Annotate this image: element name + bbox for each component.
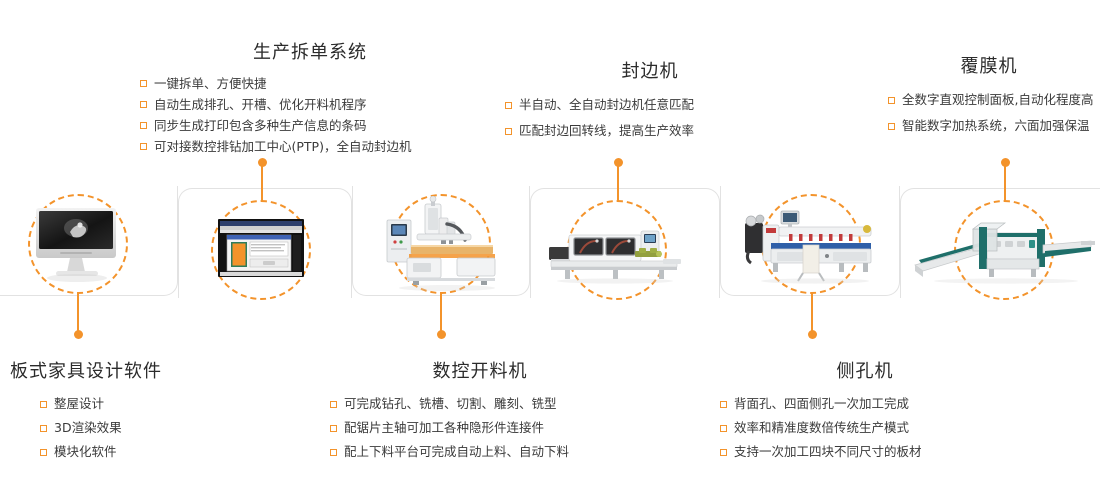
checkbox-icon	[720, 425, 727, 432]
list-item: 模块化软件	[40, 440, 210, 464]
connector-stem-side-hole	[811, 292, 813, 332]
bullet-list-cnc-cutting: 可完成钻孔、铣槽、切割、雕刻、铣型 配锯片主轴可加工各种隐形件连接件 配上下料平…	[330, 392, 630, 464]
checkbox-icon	[888, 123, 895, 130]
text-block-design-software: 板式家具设计软件 整屋设计 3D渲染效果 模块化软件	[10, 357, 210, 464]
checkbox-icon	[40, 449, 47, 456]
bullet-list-laminating: 全数字直观控制面板,自动化程度高 智能数字加热系统，六面加强保温	[888, 87, 1100, 139]
checkbox-icon	[505, 102, 512, 109]
connector-dot-edge-banding	[614, 158, 623, 167]
checkbox-icon	[40, 401, 47, 408]
bullet-list-side-hole: 背面孔、四面侧孔一次加工完成 效率和精准度数倍传统生产模式 支持一次加工四块不同…	[720, 392, 1010, 464]
connector-stem-design-software	[77, 292, 79, 332]
list-item: 自动生成排孔、开槽、优化开料机程序	[140, 94, 480, 115]
block-title-side-hole: 侧孔机	[720, 357, 1010, 383]
bullet-text: 整屋设计	[54, 392, 104, 416]
text-block-laminating: 覆膜机 全数字直观控制面板,自动化程度高 智能数字加热系统，六面加强保温	[888, 52, 1100, 139]
bullet-list-edge-banding: 半自动、全自动封边机任意匹配 匹配封边回转线，提高生产效率	[505, 92, 795, 144]
bullet-text: 支持一次加工四块不同尺寸的板材	[734, 440, 922, 464]
list-item: 匹配封边回转线，提高生产效率	[505, 118, 795, 144]
bullet-text: 匹配封边回转线，提高生产效率	[519, 118, 694, 144]
bullet-text: 同步生成打印包含多种生产信息的条码	[154, 115, 367, 136]
node-side-hole[interactable]	[761, 194, 861, 294]
node-edge-banding[interactable]	[567, 200, 667, 300]
list-item: 效率和精准度数倍传统生产模式	[720, 416, 1010, 440]
checkbox-icon	[888, 97, 895, 104]
bullet-list-design-software: 整屋设计 3D渲染效果 模块化软件	[10, 392, 210, 464]
connector-dot-side-hole	[808, 330, 817, 339]
connector-stem-edge-banding	[617, 162, 619, 202]
block-title-edge-banding: 封边机	[505, 57, 795, 83]
bullet-text: 一键拆单、方便快捷	[154, 73, 267, 94]
connector-dot-splitting-system	[258, 158, 267, 167]
checkbox-icon	[505, 128, 512, 135]
list-item: 3D渲染效果	[40, 416, 210, 440]
list-item: 背面孔、四面侧孔一次加工完成	[720, 392, 1010, 416]
text-block-cnc-cutting: 数控开料机 可完成钻孔、铣槽、切割、雕刻、铣型 配锯片主轴可加工各种隐形件连接件…	[330, 357, 630, 464]
node-cnc-cutting[interactable]	[391, 194, 491, 294]
bullet-text: 效率和精准度数倍传统生产模式	[734, 416, 909, 440]
connector-dot-design-software	[74, 330, 83, 339]
list-item: 半自动、全自动封边机任意匹配	[505, 92, 795, 118]
list-item: 整屋设计	[40, 392, 210, 416]
bullet-text: 半自动、全自动封边机任意匹配	[519, 92, 694, 118]
list-item: 可对接数控排钻加工中心(PTP)，全自动封边机	[140, 136, 480, 157]
flow-diagram: 生产拆单系统 一键拆单、方便快捷 自动生成排孔、开槽、优化开料机程序 同步生成打…	[0, 0, 1100, 495]
checkbox-icon	[720, 401, 727, 408]
node-design-software[interactable]	[28, 194, 128, 294]
connector-dot-cnc-cutting	[437, 330, 446, 339]
bullet-list-splitting-system: 一键拆单、方便快捷 自动生成排孔、开槽、优化开料机程序 同步生成打印包含多种生产…	[140, 73, 480, 157]
bullet-text: 背面孔、四面侧孔一次加工完成	[734, 392, 909, 416]
block-title-design-software: 板式家具设计软件	[10, 357, 210, 383]
bullet-text: 可完成钻孔、铣槽、切割、雕刻、铣型	[344, 392, 557, 416]
checkbox-icon	[330, 449, 337, 456]
checkbox-icon	[140, 122, 147, 129]
checkbox-icon	[330, 401, 337, 408]
list-item: 配锯片主轴可加工各种隐形件连接件	[330, 416, 630, 440]
text-block-side-hole: 侧孔机 背面孔、四面侧孔一次加工完成 效率和精准度数倍传统生产模式 支持一次加工…	[720, 357, 1010, 464]
block-title-laminating: 覆膜机	[888, 52, 1100, 78]
checkbox-icon	[140, 143, 147, 150]
list-item: 智能数字加热系统，六面加强保温	[888, 113, 1100, 139]
list-item: 全数字直观控制面板,自动化程度高	[888, 87, 1100, 113]
bullet-text: 智能数字加热系统，六面加强保温	[902, 113, 1090, 139]
bullet-text: 可对接数控排钻加工中心(PTP)，全自动封边机	[154, 136, 411, 157]
bullet-text: 全数字直观控制面板,自动化程度高	[902, 87, 1093, 113]
list-item: 支持一次加工四块不同尺寸的板材	[720, 440, 1010, 464]
list-item: 配上下料平台可完成自动上料、自动下料	[330, 440, 630, 464]
list-item: 一键拆单、方便快捷	[140, 73, 480, 94]
connector-stem-splitting-system	[261, 162, 263, 202]
node-splitting-system[interactable]	[211, 200, 311, 300]
node-laminating[interactable]	[954, 200, 1054, 300]
bullet-text: 自动生成排孔、开槽、优化开料机程序	[154, 94, 367, 115]
checkbox-icon	[40, 425, 47, 432]
connector-stem-cnc-cutting	[440, 292, 442, 332]
bullet-text: 配锯片主轴可加工各种隐形件连接件	[344, 416, 544, 440]
connector-dot-laminating	[1001, 158, 1010, 167]
list-item: 同步生成打印包含多种生产信息的条码	[140, 115, 480, 136]
checkbox-icon	[140, 80, 147, 87]
bullet-text: 3D渲染效果	[54, 416, 122, 440]
checkbox-icon	[140, 101, 147, 108]
connector-stem-laminating	[1004, 162, 1006, 202]
block-title-cnc-cutting: 数控开料机	[330, 357, 630, 383]
text-block-splitting-system: 生产拆单系统 一键拆单、方便快捷 自动生成排孔、开槽、优化开料机程序 同步生成打…	[140, 38, 480, 157]
block-title-splitting-system: 生产拆单系统	[140, 38, 480, 64]
list-item: 可完成钻孔、铣槽、切割、雕刻、铣型	[330, 392, 630, 416]
checkbox-icon	[720, 449, 727, 456]
bullet-text: 模块化软件	[54, 440, 117, 464]
checkbox-icon	[330, 425, 337, 432]
bullet-text: 配上下料平台可完成自动上料、自动下料	[344, 440, 569, 464]
text-block-edge-banding: 封边机 半自动、全自动封边机任意匹配 匹配封边回转线，提高生产效率	[505, 57, 795, 144]
